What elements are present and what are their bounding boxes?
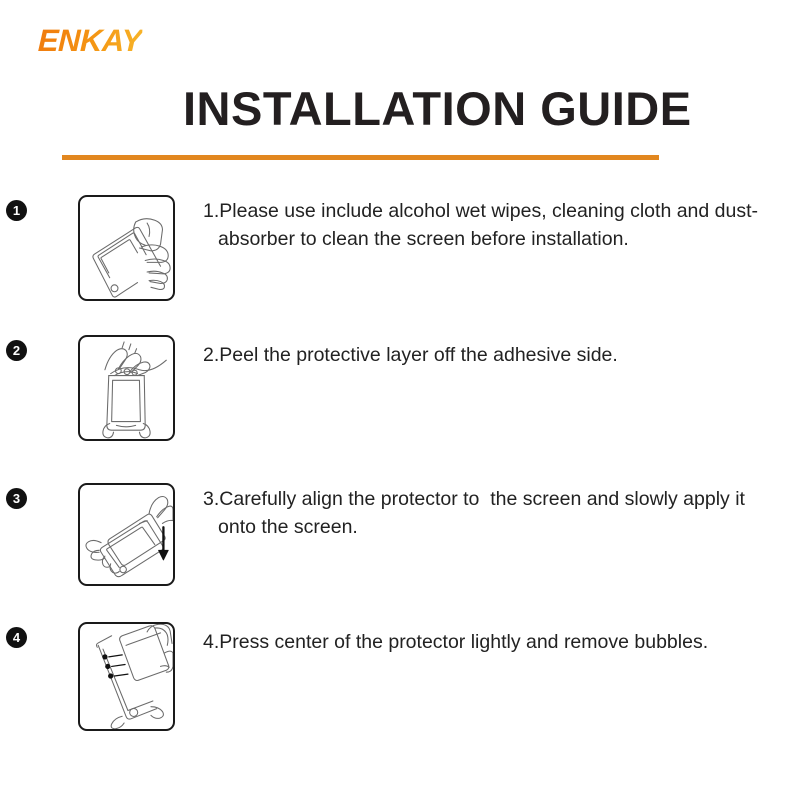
- peel-protective-layer-icon: [80, 337, 173, 439]
- step-description: 2.Peel the protective layer off the adhe…: [203, 341, 763, 369]
- step-2-illustration: [78, 335, 175, 441]
- step-description: 4.Press center of the protector lightly …: [203, 624, 763, 660]
- step-number-badge: 1: [6, 200, 27, 221]
- step-description: 1.Please use include alcohol wet wipes, …: [203, 197, 763, 253]
- step-number-badge: 2: [6, 340, 27, 361]
- step-1-illustration: [78, 195, 175, 301]
- step-4-illustration: [78, 622, 175, 731]
- press-remove-bubbles-icon: [80, 624, 173, 729]
- installation-guide-page: ENKAY INSTALLATION GUIDE: [0, 0, 800, 800]
- step-number-badge: 4: [6, 627, 27, 648]
- enkay-logo: ENKAY: [37, 25, 142, 56]
- align-protector-icon: [80, 485, 173, 584]
- step-3-illustration: [78, 483, 175, 586]
- step-description: 3.Carefully align the protector to the s…: [203, 485, 763, 541]
- title-divider: [62, 155, 659, 160]
- wipe-phone-screen-icon: [80, 197, 173, 299]
- page-title: INSTALLATION GUIDE: [183, 84, 692, 133]
- step-number-badge: 3: [6, 488, 27, 509]
